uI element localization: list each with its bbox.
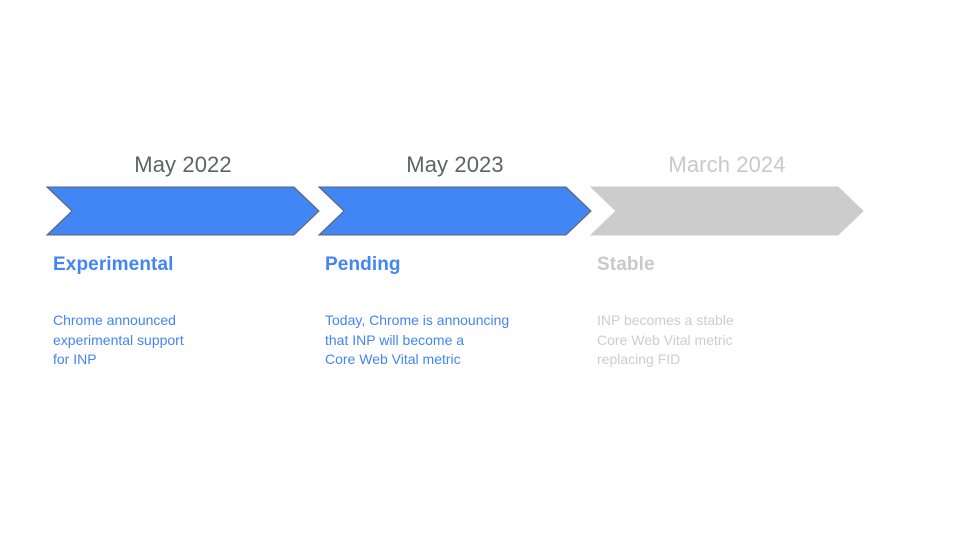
description-line: Core Web Vital metric: [325, 350, 595, 370]
description-line: Core Web Vital metric: [597, 331, 867, 351]
timeline-diagram: May 2022 Experimental Chrome announced e…: [0, 0, 960, 540]
description-line: that INP will become a: [325, 331, 595, 351]
description-line: experimental support: [53, 331, 323, 351]
stage-date-label: May 2023: [319, 152, 591, 178]
stage-description: Today, Chrome is announcing that INP wil…: [325, 311, 595, 370]
chevron-arrow-icon: [591, 187, 863, 235]
stage-arrow-experimental: [47, 187, 319, 235]
description-line: Chrome announced: [53, 311, 323, 331]
description-line: Today, Chrome is announcing: [325, 311, 595, 331]
stage-description: INP becomes a stable Core Web Vital metr…: [597, 311, 867, 370]
stage-arrow-pending: [319, 187, 591, 235]
chevron-arrow-icon: [319, 187, 591, 235]
stage-date-label: March 2024: [591, 152, 863, 178]
stage-arrow-stable: [591, 187, 863, 235]
stage-title-heading: Pending: [325, 254, 401, 276]
description-line: for INP: [53, 350, 323, 370]
chevron-arrow-icon: [47, 187, 319, 235]
stage-description: Chrome announced experimental support fo…: [53, 311, 323, 370]
description-line: INP becomes a stable: [597, 311, 867, 331]
stage-title-heading: Stable: [597, 254, 655, 276]
stage-title-heading: Experimental: [53, 254, 174, 276]
description-line: replacing FID: [597, 350, 867, 370]
stage-date-label: May 2022: [47, 152, 319, 178]
